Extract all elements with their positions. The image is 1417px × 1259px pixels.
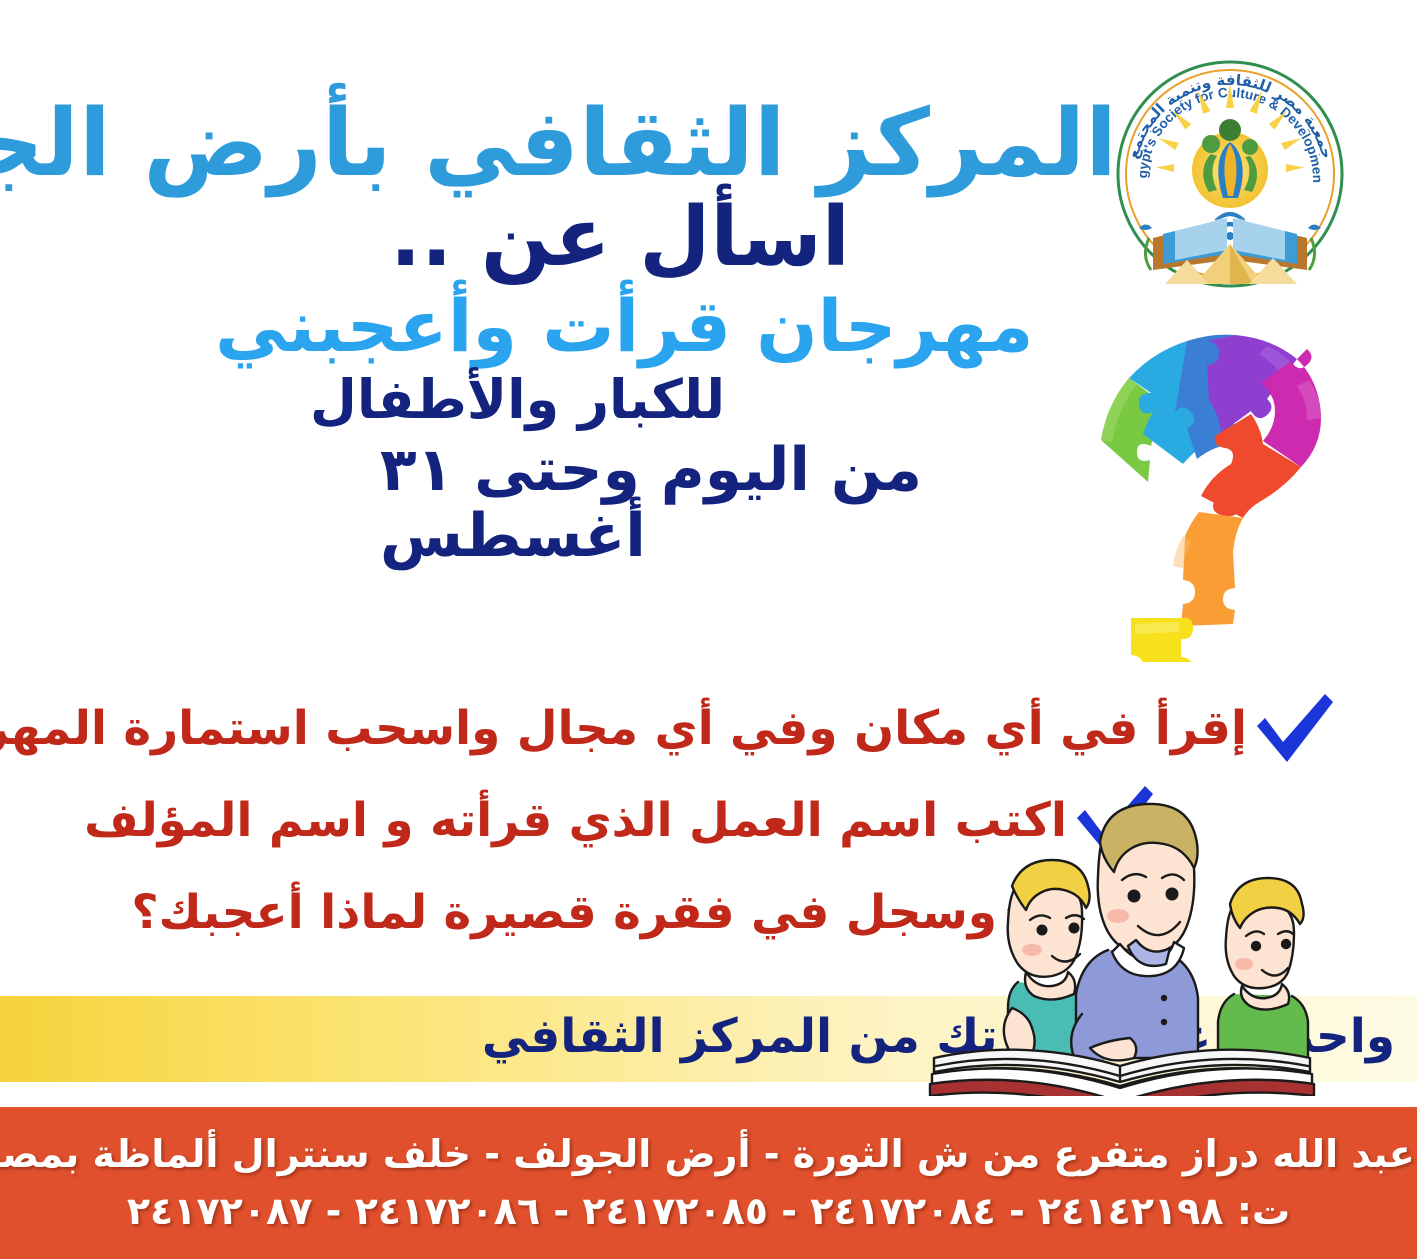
phone-numbers-text: ت: ٢٤١٤٢١٩٨ - ٢٤١٧٢٠٨٤ - ٢٤١٧٢٠٨٥ - ٢٤١٧… — [127, 1187, 1290, 1236]
ask-about-label: اسأل عن .. — [60, 195, 1117, 282]
check-icon — [1251, 690, 1337, 768]
list-item: إقرأ في أي مكان وفي أي مجال واسحب استمار… — [0, 690, 1417, 768]
step-text: وسجل في فقرة قصيرة لماذا أعجبك؟ — [131, 885, 997, 941]
page-title: المركز الثقافي بأرض الجولف — [60, 96, 1117, 191]
contact-footer: ٤٢ شارع عبد الله دراز متفرع من ش الثورة … — [0, 1107, 1417, 1259]
headline-block: المركز الثقافي بأرض الجولف اسأل عن .. مه… — [60, 96, 1117, 569]
step-text: إقرأ في أي مكان وفي أي مجال واسحب استمار… — [0, 701, 1247, 757]
audience-label: للكبار والأطفال — [60, 370, 1117, 429]
organization-logo: جمعية مصر للثقافة وتنمية المجتمع Egypt's… — [1105, 52, 1355, 292]
step-text: اكتب اسم العمل الذي قرأته و اسم المؤلف — [84, 793, 1067, 849]
family-reading-illustration — [922, 786, 1322, 1096]
address-text: ٤٢ شارع عبد الله دراز متفرع من ش الثورة … — [0, 1130, 1417, 1179]
poster-root: جمعية مصر للثقافة وتنمية المجتمع Egypt's… — [0, 0, 1417, 1259]
jigsaw-question-mark-icon — [1079, 332, 1369, 662]
festival-name: مهرجان قرأت وأعجبني — [60, 288, 1117, 366]
date-range-label: من اليوم وحتى ٣١ أغسطس — [60, 437, 1117, 569]
